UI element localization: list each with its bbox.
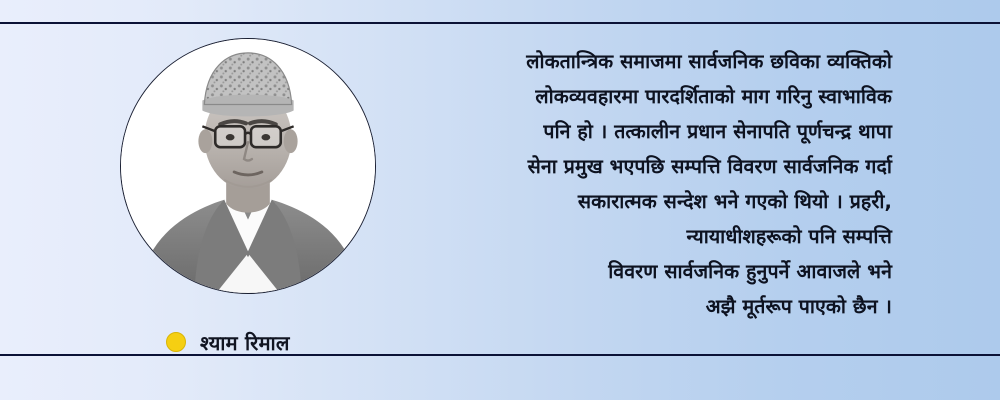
quote-line: न्यायाधीशहरूको पनि सम्पत्ति	[420, 219, 892, 254]
quote-line: लोकतान्त्रिक समाजमा सार्वजनिक छविका व्यक…	[420, 44, 892, 79]
filled-circle-icon	[166, 332, 186, 352]
avatar	[120, 38, 376, 294]
portrait-photo	[121, 39, 375, 293]
quote-line: अझै मूर्तरूप पाएको छैन ।	[420, 289, 892, 324]
quote-text-block: लोकतान्त्रिक समाजमा सार्वजनिक छविका व्यक…	[420, 44, 892, 324]
caption-row: श्याम रिमाल	[88, 322, 418, 362]
quote-line: सेना प्रमुख भएपछि सम्पत्ति विवरण सार्वजन…	[420, 149, 892, 184]
quote-line: लोकव्यवहारमा पारदर्शिताको माग गरिनु स्वा…	[420, 79, 892, 114]
quote-line: सकारात्मक सन्देश भने गएको थियो । प्रहरी,	[420, 184, 892, 219]
quote-line: पनि हो । तत्कालीन प्रधान सेनापति पूर्णचन…	[420, 114, 892, 149]
author-name: श्याम रिमाल	[200, 329, 290, 356]
portrait-column: श्याम रिमाल	[88, 30, 418, 350]
top-divider-rule	[0, 22, 1000, 24]
quote-card: श्याम रिमाल लोकतान्त्रिक समाजमा सार्वजनि…	[0, 0, 1000, 400]
quote-line: विवरण सार्वजनिक हुनुपर्ने आवाजले भने	[420, 254, 892, 289]
